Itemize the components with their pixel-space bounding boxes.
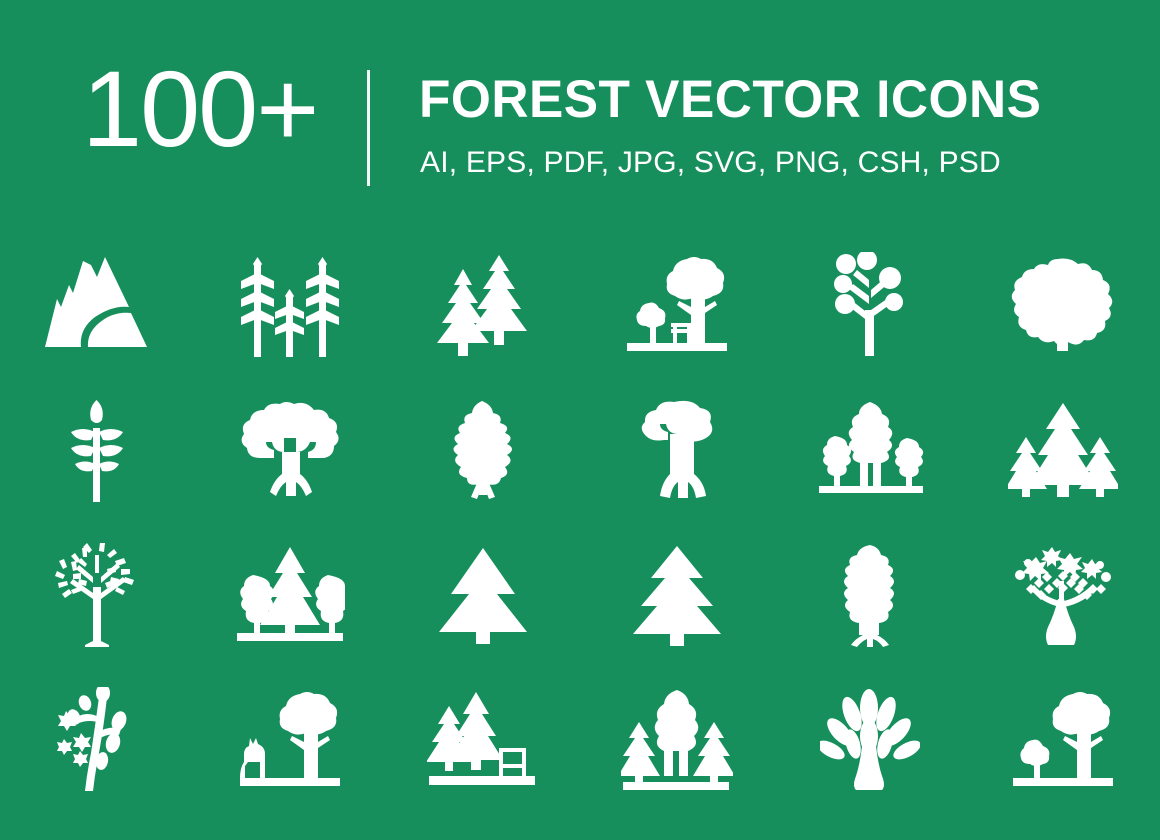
page-title: FOREST VECTOR ICONS (419, 72, 1041, 128)
park-bench-tree-icon[interactable] (597, 235, 757, 375)
tall-canopy-tree-icon[interactable] (597, 380, 757, 520)
header-divider (367, 70, 370, 186)
branching-tree-icon[interactable] (17, 525, 177, 665)
pine-two-tier-icon[interactable] (403, 525, 563, 665)
two-pine-trees-icon[interactable] (403, 235, 563, 375)
leaf-sprout-icon[interactable] (17, 380, 177, 520)
tree-with-deer-icon[interactable] (210, 670, 370, 810)
pine-shrubs-ground-icon[interactable] (210, 525, 370, 665)
broad-oak-icon[interactable] (210, 380, 370, 520)
young-leaf-tree-icon[interactable] (17, 670, 177, 810)
three-saplings-icon[interactable] (210, 235, 370, 375)
petal-leaf-tree-icon[interactable] (790, 670, 950, 810)
icon-grid (0, 232, 1160, 832)
columnar-tree-icon[interactable] (790, 525, 950, 665)
poster-header: 100+ FOREST VECTOR ICONS AI, EPS, PDF, J… (0, 0, 1160, 215)
two-trees-ground-icon[interactable] (983, 670, 1143, 810)
bubble-tree-icon[interactable] (790, 235, 950, 375)
file-formats-list: AI, EPS, PDF, JPG, SVG, PNG, CSH, PSD (420, 146, 1001, 180)
tree-row-ground-icon[interactable] (790, 380, 950, 520)
dense-conifer-icon[interactable] (403, 380, 563, 520)
pine-group-icon[interactable] (983, 380, 1143, 520)
icon-count: 100+ (82, 55, 342, 163)
blossom-tree-icon[interactable] (983, 525, 1143, 665)
pine-three-tier-icon[interactable] (597, 525, 757, 665)
mountain-trail-icon[interactable] (17, 235, 177, 375)
icon-pack-poster: 100+ FOREST VECTOR ICONS AI, EPS, PDF, J… (0, 0, 1160, 840)
tree-between-pines-icon[interactable] (597, 670, 757, 810)
bushy-oak-icon[interactable] (983, 235, 1143, 375)
pines-with-bench-icon[interactable] (403, 670, 563, 810)
